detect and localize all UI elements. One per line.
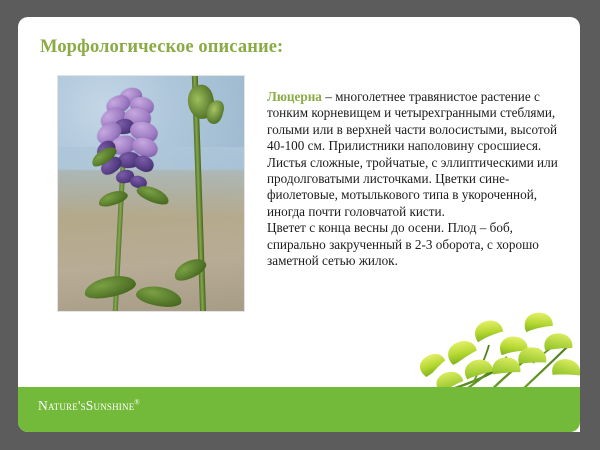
ginkgo-leaves-icon	[415, 305, 580, 397]
presentation-slide: Морфологическое описание:	[18, 17, 580, 432]
page-title: Морфологическое описание:	[40, 37, 283, 58]
footer-green-band: Nature'sSunshine®	[18, 387, 580, 432]
registered-trademark-icon: ®	[134, 399, 140, 407]
description-paragraph-1: Люцерна – многолетнее травянистое растен…	[267, 89, 563, 220]
slide-stage: Морфологическое описание:	[0, 0, 600, 450]
alfalfa-flower-photo	[57, 75, 245, 312]
description-text-block: Люцерна – многолетнее травянистое растен…	[267, 89, 563, 269]
photo-flower-spike	[90, 88, 186, 220]
lead-term: Люцерна	[267, 89, 322, 104]
description-paragraph-1-rest: – многолетнее травянистое растение с тон…	[267, 89, 558, 219]
description-paragraph-2: Цветет с конца весны до осени. Плод – бо…	[267, 220, 563, 269]
brand-logo-nature: Nature's	[38, 398, 86, 413]
brand-logo-sunshine: Sunshine	[86, 398, 135, 413]
brand-logo: Nature'sSunshine®	[38, 398, 140, 414]
